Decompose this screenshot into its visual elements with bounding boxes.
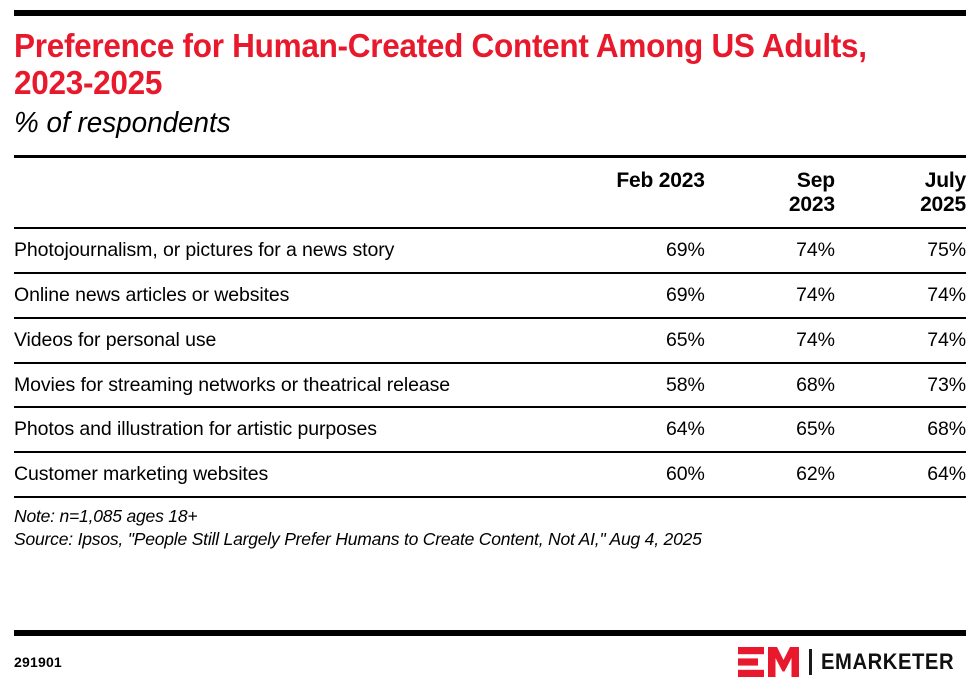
row-label: Photos and illustration for artistic pur… (14, 407, 575, 452)
table-row: Photojournalism, or pictures for a news … (14, 228, 966, 273)
footer-row: 291901 EMARKETER (14, 647, 966, 677)
table-row: Movies for streaming networks or theatri… (14, 363, 966, 408)
table-row: Online news articles or websites 69% 74%… (14, 273, 966, 318)
row-value-july-2025: 68% (835, 407, 966, 452)
table-header-row: Feb 2023 Sep 2023 July 2025 (14, 157, 966, 228)
row-value-sep-2023: 74% (705, 273, 835, 318)
row-value-feb-2023: 64% (575, 407, 705, 452)
column-header-label (14, 157, 575, 228)
row-value-sep-2023: 74% (705, 318, 835, 363)
column-header-sep-2023-line1: Sep (797, 169, 835, 192)
table-body: Photojournalism, or pictures for a news … (14, 228, 966, 497)
page-title: Preference for Human-Created Content Amo… (14, 27, 921, 102)
table-header: Feb 2023 Sep 2023 July 2025 (14, 157, 966, 228)
table-row: Photos and illustration for artistic pur… (14, 407, 966, 452)
row-label: Photojournalism, or pictures for a news … (14, 228, 575, 273)
row-value-july-2025: 75% (835, 228, 966, 273)
table-row: Videos for personal use 65% 74% 74% (14, 318, 966, 363)
row-value-july-2025: 64% (835, 452, 966, 497)
row-label: Movies for streaming networks or theatri… (14, 363, 575, 408)
logo-divider (809, 649, 812, 675)
notes-block: Note: n=1,085 ages 18+ Source: Ipsos, "P… (14, 505, 966, 552)
row-value-feb-2023: 69% (575, 228, 705, 273)
row-value-sep-2023: 68% (705, 363, 835, 408)
footer-divider (14, 630, 966, 636)
row-value-feb-2023: 69% (575, 273, 705, 318)
column-header-feb-2023: Feb 2023 (575, 157, 705, 228)
table-row: Customer marketing websites 60% 62% 64% (14, 452, 966, 497)
column-header-sep-2023-line2: 2023 (789, 193, 835, 216)
emarketer-logo[interactable]: EMARKETER (738, 647, 966, 677)
row-value-sep-2023: 65% (705, 407, 835, 452)
row-value-sep-2023: 74% (705, 228, 835, 273)
row-value-sep-2023: 62% (705, 452, 835, 497)
column-header-feb-2023-line1: Feb 2023 (616, 169, 704, 192)
column-header-july-2025-line2: 2025 (920, 193, 966, 216)
row-label: Customer marketing websites (14, 452, 575, 497)
row-value-july-2025: 73% (835, 363, 966, 408)
source-text: Source: Ipsos, "People Still Largely Pre… (14, 528, 966, 551)
footer: 291901 EMARKETER (14, 630, 966, 677)
column-header-july-2025-line1: July (925, 169, 966, 192)
page-subtitle: % of respondents (14, 108, 928, 140)
document-id: 291901 (14, 654, 62, 670)
row-label: Videos for personal use (14, 318, 575, 363)
column-header-july-2025: July 2025 (835, 157, 966, 228)
logo-wordmark: EMARKETER (821, 649, 954, 675)
note-text: Note: n=1,085 ages 18+ (14, 505, 966, 528)
chart-page: Preference for Human-Created Content Amo… (0, 10, 980, 689)
column-header-sep-2023: Sep 2023 (705, 157, 835, 228)
data-table: Feb 2023 Sep 2023 July 2025 Photojournal… (14, 155, 966, 497)
row-value-feb-2023: 65% (575, 318, 705, 363)
row-value-feb-2023: 60% (575, 452, 705, 497)
em-logo-icon (738, 647, 800, 677)
row-value-feb-2023: 58% (575, 363, 705, 408)
top-divider (14, 10, 966, 16)
row-value-july-2025: 74% (835, 273, 966, 318)
row-label: Online news articles or websites (14, 273, 575, 318)
row-value-july-2025: 74% (835, 318, 966, 363)
